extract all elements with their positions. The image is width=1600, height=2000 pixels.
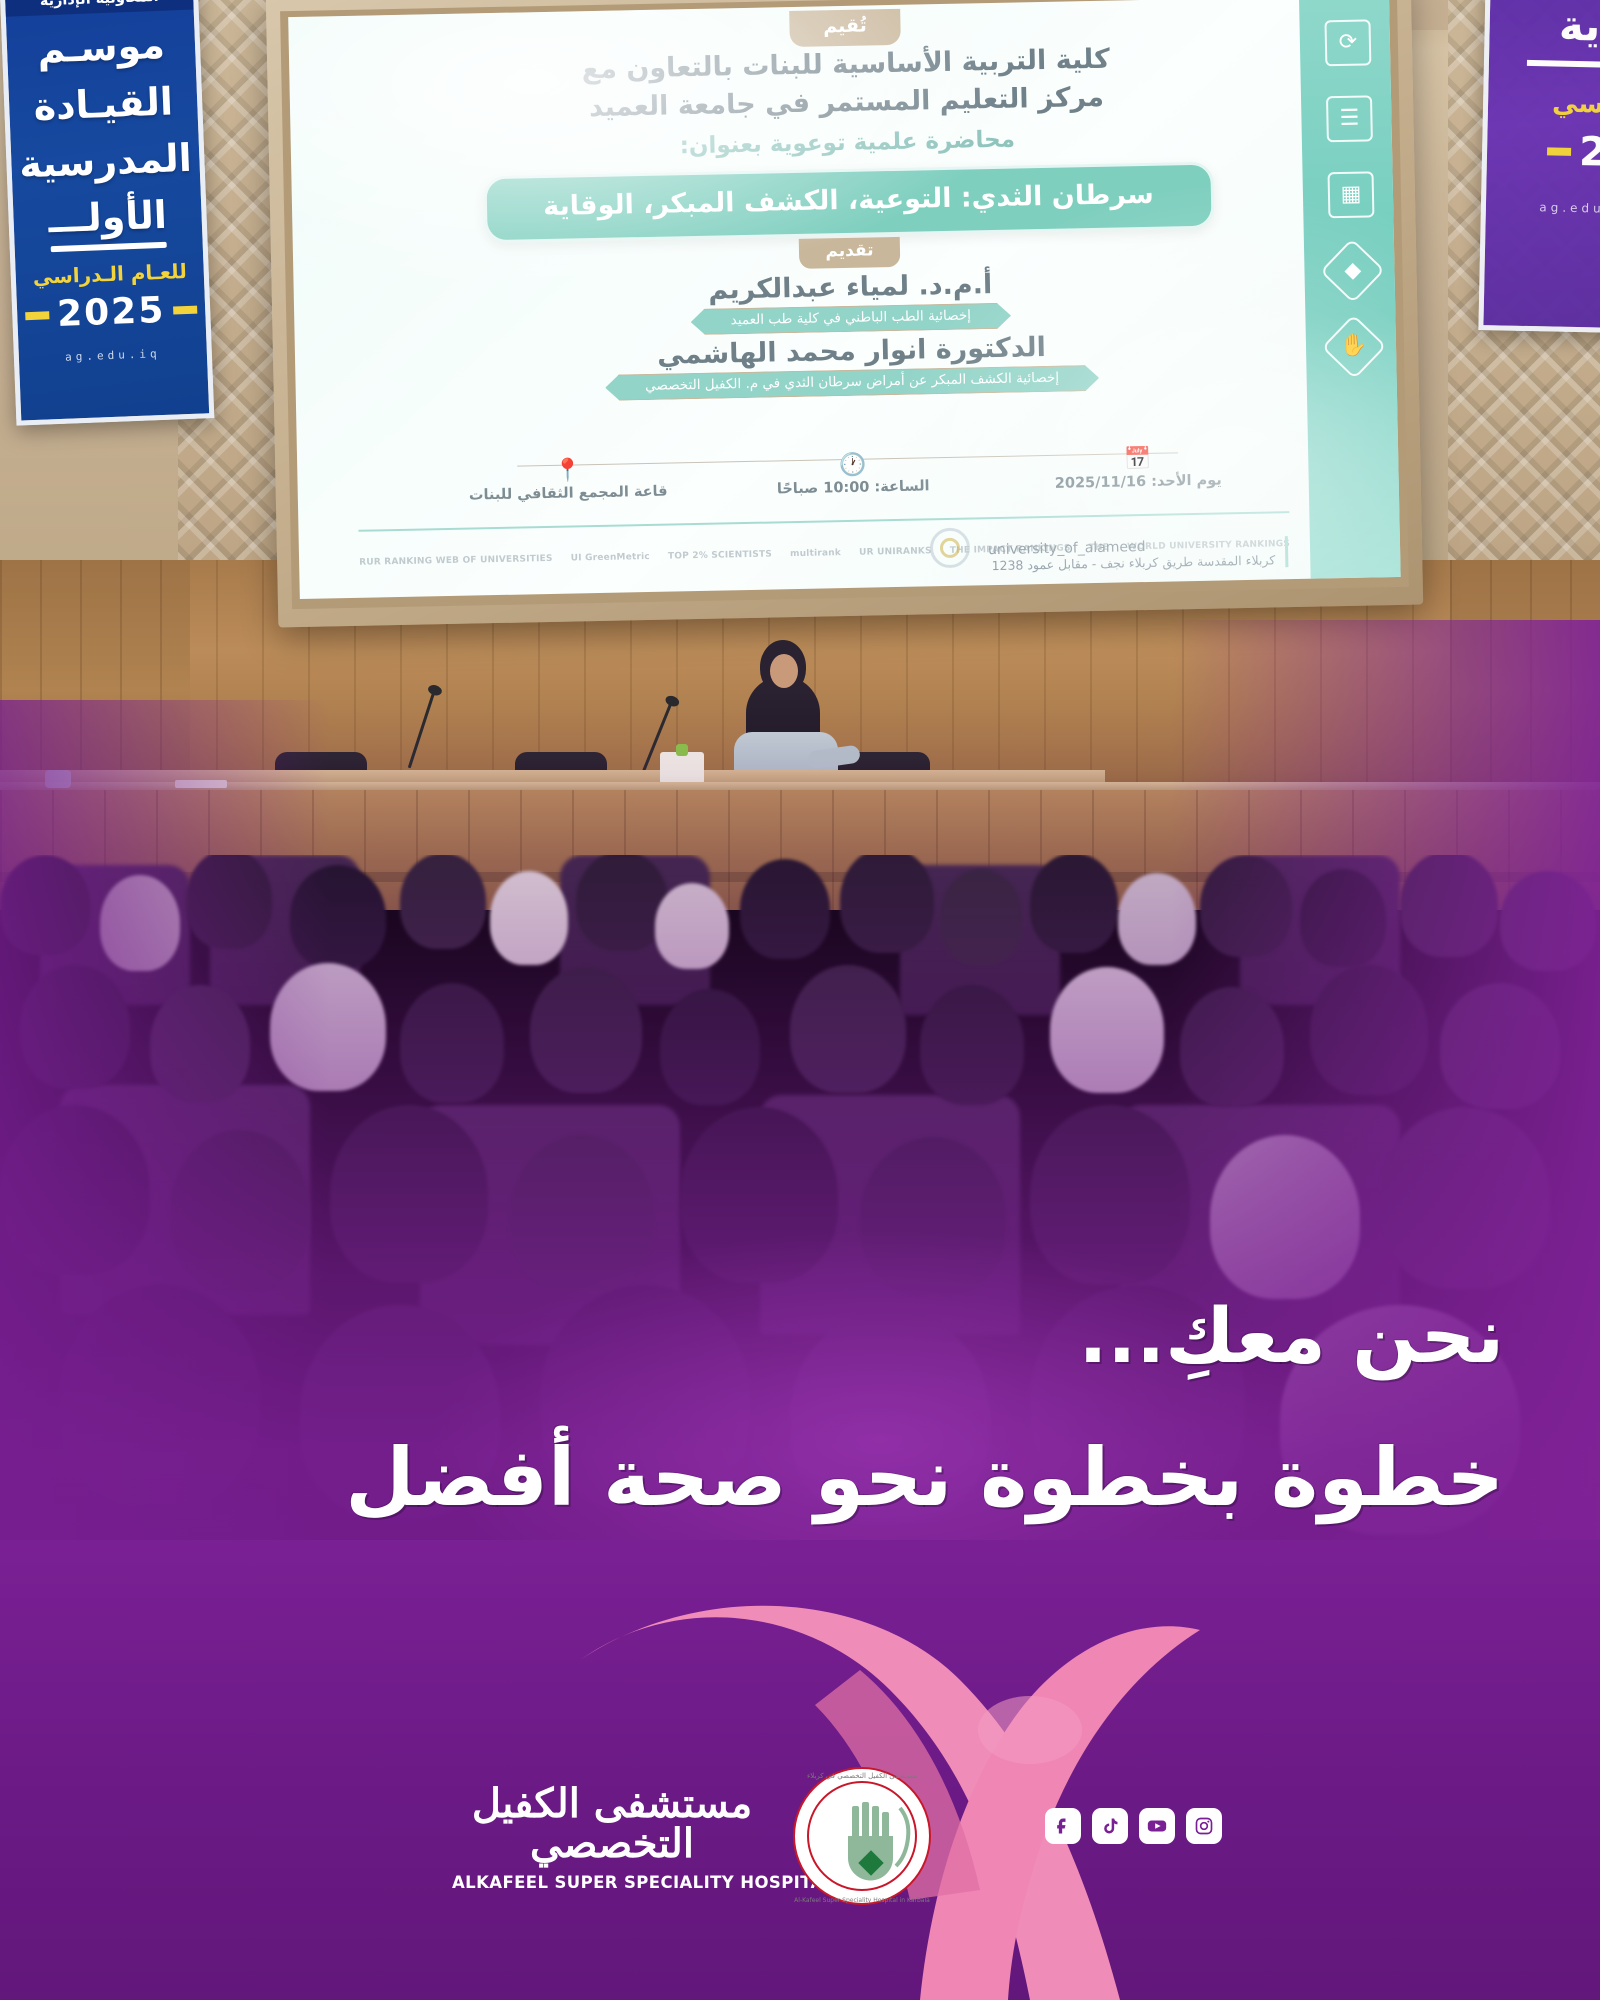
location-pin-icon: 📍 (554, 460, 582, 483)
certificate-icon: ▦ (1328, 171, 1375, 218)
ranking-logo: UR UNIRANKS (859, 546, 932, 557)
meta-place: 📍 قاعة المجمع الثقافي للبنات (427, 458, 709, 505)
poster-canvas: ⟳ ☰ ▦ ◆ ✋ تُقيم كلية التربية الأساسية لل… (0, 0, 1600, 2000)
slide-side-badges: ⟳ ☰ ▦ ◆ ✋ (1299, 19, 1400, 371)
headline-line-2: خطوة بخطوة نحو صحة أفضل (184, 1434, 1504, 1522)
headline-line-1: نحن معكِ... (184, 1296, 1504, 1376)
instagram-icon[interactable] (1186, 1808, 1222, 1844)
dash-right-icon (173, 305, 197, 314)
hospital-name-english: ALKAFEEL SUPER SPECIALITY HOSPITAL LABS (452, 1873, 772, 1892)
slide-contact-block: university_of_alameed كربلاء المقدسة طري… (988, 536, 1289, 573)
speaker-role: إخصائية الكشف المبكر عن أمراض سرطان الثد… (605, 365, 1099, 401)
presenter-tag: تقديم (799, 237, 900, 269)
calendar-icon: 📅 (1124, 449, 1152, 472)
banner-line-3: المدرسية (10, 123, 200, 187)
hand-icon: ✋ (1322, 314, 1387, 379)
banner-right-url: ag.edu. (1486, 199, 1600, 217)
ranking-logo: UI GreenMetric (571, 552, 650, 564)
banner-year-label: للعـام الـدراسي (15, 259, 204, 290)
diamond-icon: ◆ (1320, 238, 1385, 303)
social-media-links[interactable] (1045, 1808, 1222, 1844)
hospital-wordmark: مستشفى الكفيل التخصصي ALKAFEEL SUPER SPE… (452, 1784, 772, 1892)
paper-on-desk (175, 780, 227, 788)
slide-footer-divider (358, 511, 1289, 532)
slide-meta-row: 📅 يوم الأحد: 2025/11/16 🕐 الساعة: 10:00 … (427, 446, 1279, 504)
banner-right-rule (1527, 60, 1600, 68)
speaker-1: أ.م.د. لمياء عبدالكريم إخصائية الطب البا… (424, 263, 1278, 340)
face (770, 654, 798, 688)
banner-right-partial: ية سي 2 ag.edu. (1478, 0, 1600, 334)
presentation-slide: ⟳ ☰ ▦ ◆ ✋ تُقيم كلية التربية الأساسية لل… (288, 0, 1400, 599)
lecture-title: سرطان الثدي: التوعية، الكشف المبكر، الوق… (483, 161, 1214, 243)
speaker-role: إخصائية الطب الباطني في كلية طب العميد (690, 303, 1011, 335)
ranking-logo: RUR RANKING WEB OF UNIVERSITIES (359, 554, 553, 568)
clock-icon: 🕐 (839, 455, 867, 478)
seal-arabic-text: مستشفى الكفيل التخصصي في كربلاء (807, 1772, 917, 1780)
facebook-icon[interactable] (1045, 1808, 1081, 1844)
footer-branding: مستشفى الكفيل التخصصي ALKAFEEL SUPER SPE… (0, 1772, 1600, 1892)
youtube-icon[interactable] (1139, 1808, 1175, 1844)
speaker-person (712, 630, 852, 790)
water-bottle (45, 770, 71, 788)
banner-right-line-2: سي (1488, 88, 1600, 122)
hospital-name-arabic: مستشفى الكفيل التخصصي (452, 1784, 772, 1864)
organizer-tag: تُقيم (789, 9, 901, 47)
speaker-name: أ.م.د. لمياء عبدالكريم (424, 263, 1277, 311)
banner-right-year-value: 2 (1579, 129, 1600, 176)
slide-header-block: تُقيم كلية التربية الأساسية للبنات بالتع… (418, 1, 1279, 404)
projection-screen-frame: ⟳ ☰ ▦ ◆ ✋ تُقيم كلية التربية الأساسية لل… (266, 0, 1423, 627)
book-icon: ☰ (1326, 95, 1373, 142)
university-seal-icon (930, 528, 971, 569)
banner-line-1: موسـم (6, 10, 196, 74)
meta-time: 🕐 الساعة: 10:00 صباحًا (712, 452, 994, 499)
meta-place-text: قاعة المجمع الثقافي للبنات (469, 484, 668, 504)
refresh-icon: ⟳ (1324, 19, 1371, 66)
banner-rule (50, 242, 167, 252)
banner-school-leadership-season: المعاونية الإدارية موسـم القيـادة المدرس… (0, 0, 214, 426)
ranking-logo: multirank (790, 548, 841, 559)
seal-english-text: Al-Kafeel Super Speciality Hospital in K… (794, 1897, 930, 1904)
banner-line-4: الأولـــ (12, 180, 202, 244)
alkafeel-hospital-seal-logo: مستشفى الكفيل التخصصي في كربلاء Al-Kafee… (792, 1766, 932, 1906)
dash-left-icon (25, 311, 49, 320)
slide-side-strip: ⟳ ☰ ▦ ◆ ✋ (1299, 0, 1401, 579)
tissue-box (660, 752, 704, 784)
speaker-2: الدكتورة انوار محمد الهاشمي إخصائية الكش… (425, 327, 1279, 404)
banner-year: 2025 (17, 289, 206, 337)
wood-wall-right (1450, 560, 1600, 820)
dash-left-icon (1547, 148, 1571, 157)
meta-date-text: يوم الأحد: 2025/11/16 (1055, 472, 1222, 491)
projection-screen: ⟳ ☰ ▦ ◆ ✋ تُقيم كلية التربية الأساسية لل… (288, 0, 1400, 599)
banner-right-year: 2 (1487, 128, 1600, 178)
banner-line-2: القيـادة (8, 66, 198, 130)
banner-year-value: 2025 (56, 290, 166, 335)
campaign-headline: نحن معكِ... خطوة بخطوة نحو صحة أفضل (184, 1296, 1504, 1522)
banner-right-line-1: ية (1489, 0, 1600, 53)
meta-date: 📅 يوم الأحد: 2025/11/16 (997, 446, 1279, 493)
tiktok-icon[interactable] (1092, 1808, 1128, 1844)
meta-time-text: الساعة: 10:00 صباحًا (777, 478, 930, 497)
ranking-logo: TOP 2% SCIENTISTS (668, 550, 772, 562)
banner-url: ag.edu.iq (19, 346, 207, 366)
